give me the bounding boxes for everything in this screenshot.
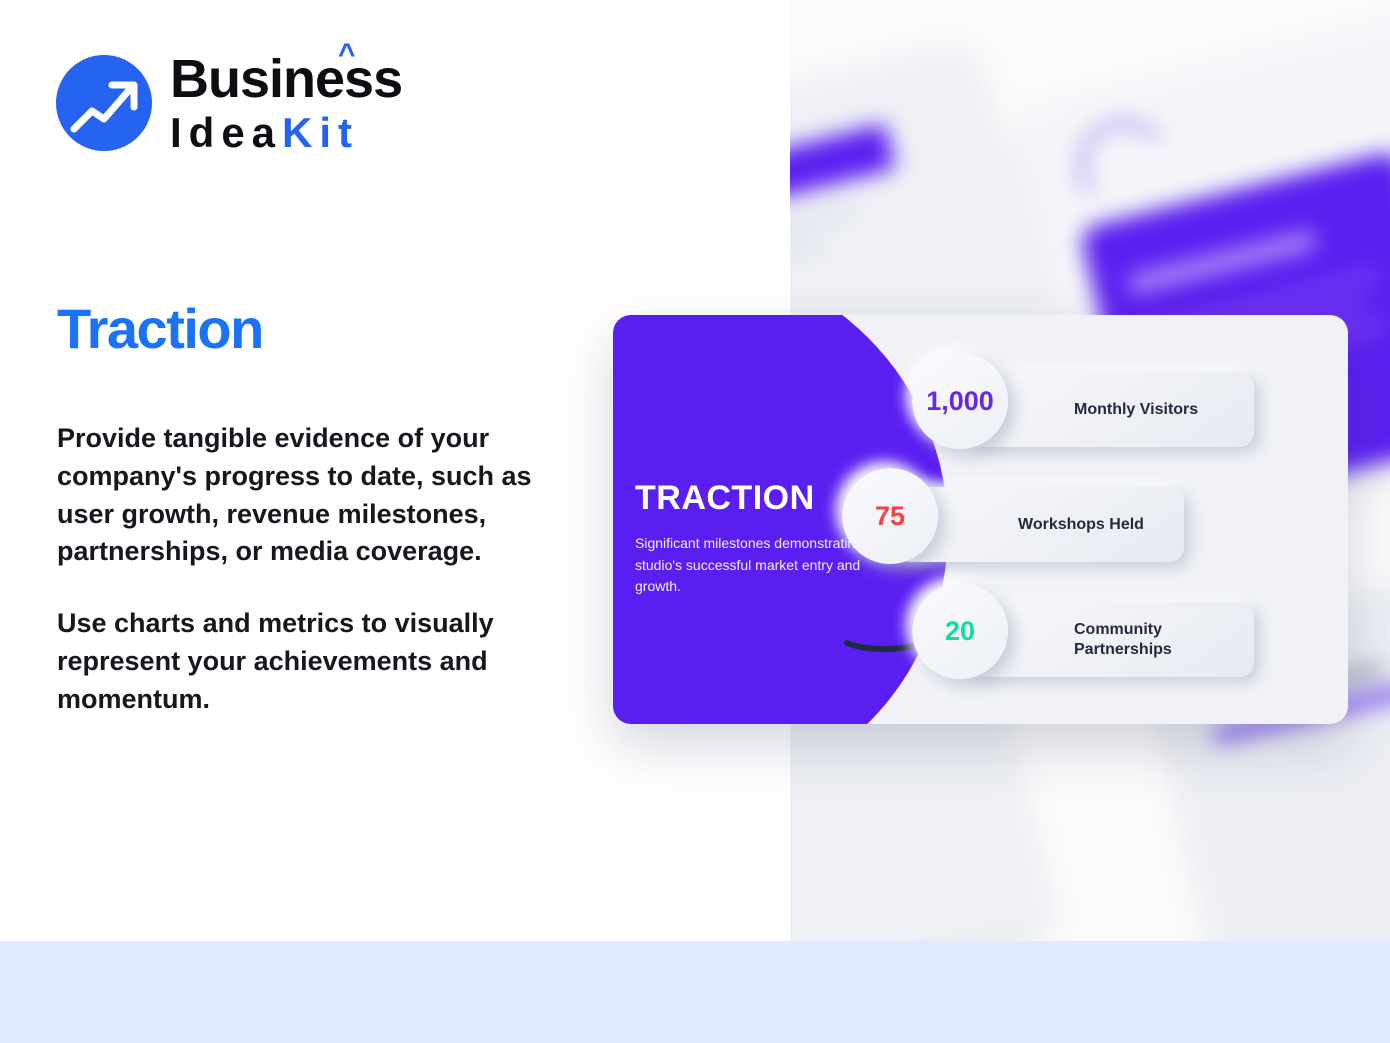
metric-label-pill: Community Partnerships — [966, 602, 1254, 677]
brand-name-bottom-accent: Kit — [282, 109, 359, 156]
metric-label-pill: Workshops Held — [896, 487, 1184, 562]
slide-page: Business ^ IdeaKit Traction Provide tang… — [0, 0, 1390, 1043]
description-paragraph-2: Use charts and metrics to visually repre… — [57, 605, 567, 718]
brand-wordmark: Business ^ IdeaKit — [170, 52, 402, 154]
description-block: Provide tangible evidence of your compan… — [57, 420, 567, 719]
brand-name-top-text: Business — [170, 49, 402, 109]
traction-slide-card: TRACTION Significant milestones demonstr… — [613, 315, 1348, 724]
growth-chart-arrow-icon — [56, 55, 152, 151]
bottom-accent-band — [0, 941, 1390, 1043]
metric-value-circle: 20 — [912, 583, 1008, 679]
metric-value-circle: 75 — [842, 468, 938, 564]
brand-name-bottom: IdeaKit — [170, 112, 402, 154]
description-paragraph-1: Provide tangible evidence of your compan… — [57, 420, 567, 571]
metric-label-pill: Monthly Visitors — [966, 372, 1254, 447]
page-title: Traction — [57, 296, 263, 361]
metric-item: Monthly Visitors 1,000 — [912, 353, 1332, 468]
circumflex-accent-icon: ^ — [338, 40, 355, 70]
metric-value-circle: 1,000 — [912, 353, 1008, 449]
brand-name-top: Business ^ — [170, 52, 402, 106]
metric-label: Community Partnerships — [966, 620, 1254, 660]
metrics-list: Monthly Visitors 1,000 Workshops Held 75… — [912, 353, 1332, 698]
metric-value: 20 — [945, 616, 975, 647]
metric-value: 1,000 — [926, 386, 994, 417]
metric-value: 75 — [875, 501, 905, 532]
metric-item: Community Partnerships 20 — [912, 583, 1332, 698]
brand-logo: Business ^ IdeaKit — [56, 52, 402, 154]
brand-name-bottom-dark: Idea — [170, 109, 282, 156]
metric-item: Workshops Held 75 — [912, 468, 1332, 583]
